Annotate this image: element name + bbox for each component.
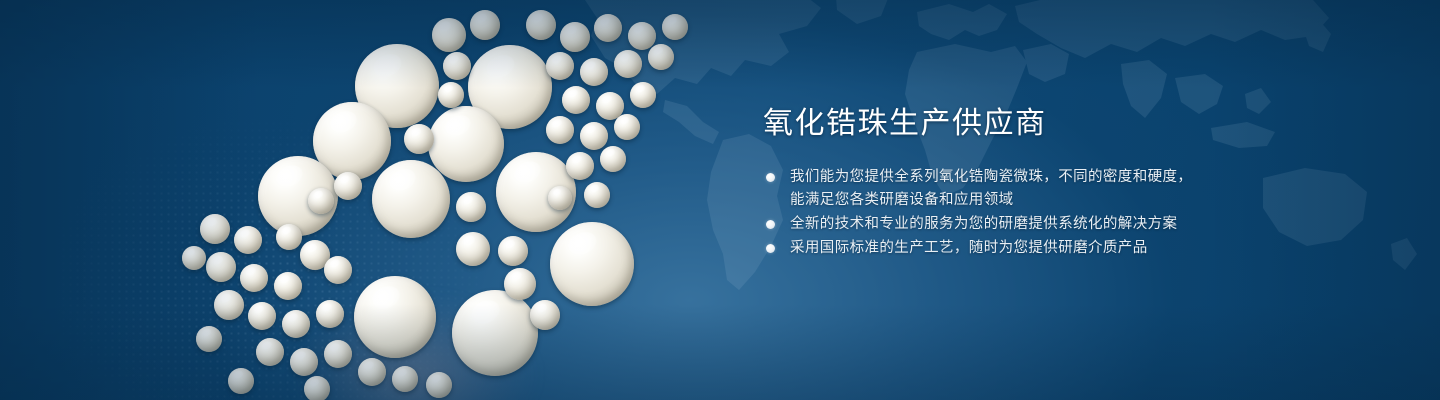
vignette-overlay: [0, 0, 1440, 400]
hero-banner: 氧化锆珠生产供应商 我们能为您提供全系列氧化锆陶瓷微珠，不同的密度和硬度， 能满…: [0, 0, 1440, 400]
